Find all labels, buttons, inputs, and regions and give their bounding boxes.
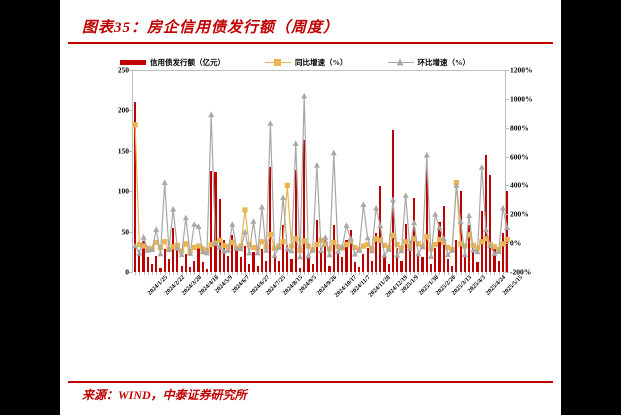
y2-axis-tick-label: 800% bbox=[510, 123, 529, 132]
square-marker bbox=[217, 238, 222, 243]
square-marker bbox=[162, 239, 167, 244]
square-marker bbox=[280, 239, 285, 244]
legend-item-issuance[interactable]: 信用债发行额（亿元） bbox=[120, 57, 225, 68]
triangle-marker bbox=[479, 164, 485, 170]
chart-legend: 信用债发行额（亿元） 同比增速（%） 环比增速（%） bbox=[120, 54, 550, 70]
line-series-layer bbox=[133, 70, 505, 272]
triangle-marker bbox=[365, 235, 371, 241]
triangle-marker bbox=[280, 194, 286, 200]
y2-axis-tick-label: 0% bbox=[510, 239, 521, 248]
left-black-rail bbox=[0, 0, 60, 415]
triangle-marker bbox=[259, 204, 265, 210]
bar-swatch-icon bbox=[120, 60, 146, 65]
line-path bbox=[135, 125, 507, 252]
triangle-marker bbox=[157, 251, 163, 257]
y2-axis-tick-mark bbox=[506, 128, 509, 129]
triangle-marker bbox=[432, 211, 438, 217]
triangle-marker bbox=[483, 227, 489, 233]
triangle-marker bbox=[267, 120, 273, 126]
triangle-marker bbox=[377, 223, 383, 229]
legend-item-mom[interactable]: 环比增速（%） bbox=[388, 57, 471, 68]
y-axis-tick-mark bbox=[129, 110, 132, 111]
triangle-marker bbox=[297, 254, 303, 260]
y-axis-tick-mark bbox=[129, 191, 132, 192]
y-axis-tick-mark bbox=[129, 272, 132, 273]
triangle-marker bbox=[403, 192, 409, 198]
chart-card: 信用债发行额（亿元） 同比增速（%） 环比增速（%） 2502001501005… bbox=[80, 52, 550, 372]
triangle-marker bbox=[360, 201, 366, 207]
line-square-marker-icon bbox=[265, 59, 291, 66]
right-black-rail bbox=[561, 0, 621, 415]
square-marker bbox=[302, 238, 307, 243]
footer-divider bbox=[68, 381, 553, 383]
triangle-marker bbox=[246, 250, 252, 256]
y-axis-tick-label: 100 bbox=[118, 187, 129, 196]
square-marker bbox=[268, 232, 273, 237]
triangle-marker bbox=[250, 218, 256, 224]
square-marker bbox=[230, 240, 235, 245]
triangle-marker bbox=[229, 221, 235, 227]
triangle-marker bbox=[390, 197, 396, 203]
triangle-marker bbox=[411, 219, 417, 225]
line-path bbox=[135, 96, 507, 257]
y2-axis-tick-mark bbox=[506, 99, 509, 100]
square-marker bbox=[390, 233, 395, 238]
legend-label-yoy: 同比增速（%） bbox=[295, 57, 348, 68]
line-triangle-marker-icon bbox=[388, 59, 414, 66]
triangle-marker bbox=[170, 206, 176, 212]
triangle-marker bbox=[208, 112, 214, 118]
triangle-marker bbox=[136, 250, 142, 256]
square-marker bbox=[285, 183, 290, 188]
plot-area: 250200150100500 1200%1000%800%600%400%20… bbox=[133, 70, 505, 272]
triangle-marker bbox=[293, 140, 299, 146]
square-marker bbox=[183, 241, 188, 246]
y2-axis-tick-mark bbox=[506, 272, 509, 273]
triangle-marker bbox=[428, 253, 434, 259]
bar bbox=[506, 191, 508, 272]
triangle-marker bbox=[318, 248, 324, 254]
y2-axis-tick-label: 1200% bbox=[510, 66, 533, 75]
square-marker bbox=[433, 242, 438, 247]
y-axis-tick-label: 150 bbox=[118, 146, 129, 155]
y-axis-tick-mark bbox=[129, 70, 132, 71]
triangle-marker bbox=[141, 234, 147, 240]
triangle-marker bbox=[272, 252, 278, 258]
y-axis-tick-label: 50 bbox=[122, 227, 130, 236]
y2-axis-tick-mark bbox=[506, 70, 509, 71]
triangle-marker bbox=[373, 205, 379, 211]
y2-axis-tick-label: 600% bbox=[510, 152, 529, 161]
y2-axis-tick-mark bbox=[506, 157, 509, 158]
triangle-marker bbox=[436, 225, 442, 231]
y-axis-tick-label: 250 bbox=[118, 66, 129, 75]
triangle-marker bbox=[183, 215, 189, 221]
triangle-marker bbox=[424, 152, 430, 158]
triangle-marker bbox=[162, 179, 168, 185]
triangle-marker bbox=[322, 234, 328, 240]
square-marker bbox=[293, 236, 298, 241]
y-axis-tick-mark bbox=[129, 232, 132, 233]
square-marker bbox=[133, 122, 138, 127]
triangle-marker bbox=[153, 226, 159, 232]
square-marker bbox=[505, 237, 510, 242]
square-marker bbox=[424, 234, 429, 239]
page-title: 图表35：房企信用债发行额（周度） bbox=[82, 16, 339, 37]
square-marker bbox=[242, 207, 247, 212]
y-axis-tick-mark bbox=[129, 151, 132, 152]
square-marker bbox=[259, 239, 264, 244]
source-note: 来源：WIND，中泰证券研究所 bbox=[82, 386, 247, 403]
legend-label-issuance: 信用债发行额（亿元） bbox=[150, 57, 225, 68]
legend-label-mom: 环比增速（%） bbox=[418, 57, 471, 68]
title-divider bbox=[68, 42, 553, 44]
y2-axis-tick-label: 400% bbox=[510, 181, 529, 190]
y2-axis-tick-mark bbox=[506, 214, 509, 215]
y2-axis-tick-mark bbox=[506, 185, 509, 186]
y2-axis-tick-mark bbox=[506, 243, 509, 244]
slide-root: 图表35：房企信用债发行额（周度） 信用债发行额（亿元） 同比增速（%） 环比增… bbox=[0, 0, 621, 415]
legend-item-yoy[interactable]: 同比增速（%） bbox=[265, 57, 348, 68]
triangle-marker bbox=[314, 162, 320, 168]
triangle-marker bbox=[301, 93, 307, 99]
triangle-marker bbox=[466, 213, 472, 219]
triangle-marker bbox=[500, 205, 506, 211]
y2-axis-tick-label: 1000% bbox=[510, 94, 533, 103]
x-axis-labels: 2024/1/252024/2/222024/3/282024/4/182024… bbox=[133, 274, 505, 344]
triangle-marker bbox=[327, 252, 333, 258]
triangle-marker bbox=[343, 222, 349, 228]
y2-axis-tick-label: 200% bbox=[510, 210, 529, 219]
triangle-marker bbox=[462, 251, 468, 257]
y-axis-tick-label: 200 bbox=[118, 106, 129, 115]
triangle-marker bbox=[331, 150, 337, 156]
triangle-marker bbox=[191, 221, 197, 227]
